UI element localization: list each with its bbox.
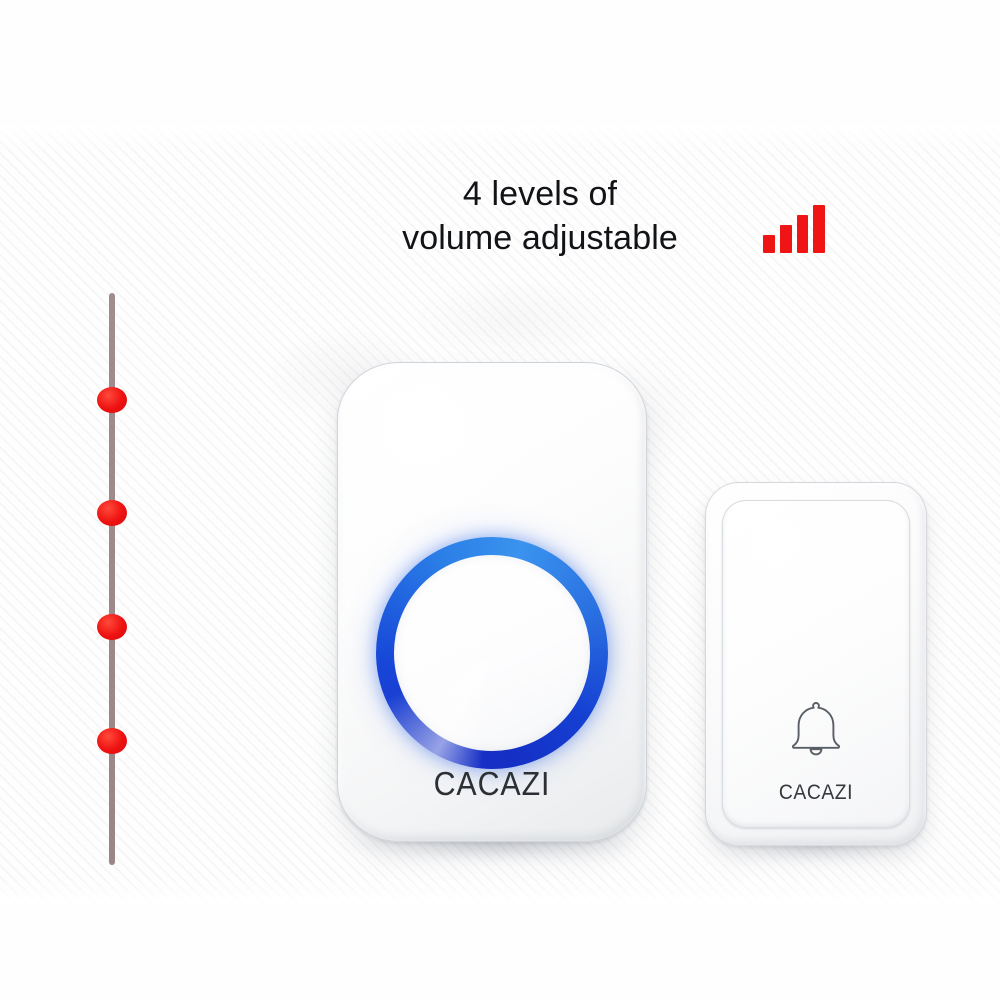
volume-level-dot-2 (97, 500, 127, 526)
led-ring-glint (376, 537, 608, 769)
headline-text: 4 levels of volume adjustable (330, 172, 750, 260)
receiver-gloss-highlight (356, 377, 547, 540)
volume-level-dot-1 (97, 387, 127, 413)
volume-bar-4 (813, 205, 825, 253)
volume-bar-3 (797, 215, 809, 253)
volume-level-dot-4 (97, 728, 127, 754)
volume-level-bars-icon (763, 205, 825, 253)
push-button-face[interactable]: CACAZI (722, 500, 910, 828)
doorbell-push-button: CACAZI (705, 482, 927, 846)
push-button-gloss-highlight (738, 514, 846, 612)
volume-level-rail (109, 293, 115, 865)
volume-bar-2 (780, 225, 792, 253)
receiver-brand-label: CACAZI (350, 765, 633, 803)
push-button-brand-label: CACAZI (730, 781, 901, 805)
volume-bar-1 (763, 235, 775, 253)
bell-icon (787, 697, 845, 759)
product-marketing-image: 4 levels of volume adjustable CACAZI (0, 0, 1000, 1000)
volume-level-dot-3 (97, 614, 127, 640)
doorbell-receiver: CACAZI (337, 362, 647, 842)
led-ring (376, 537, 608, 769)
